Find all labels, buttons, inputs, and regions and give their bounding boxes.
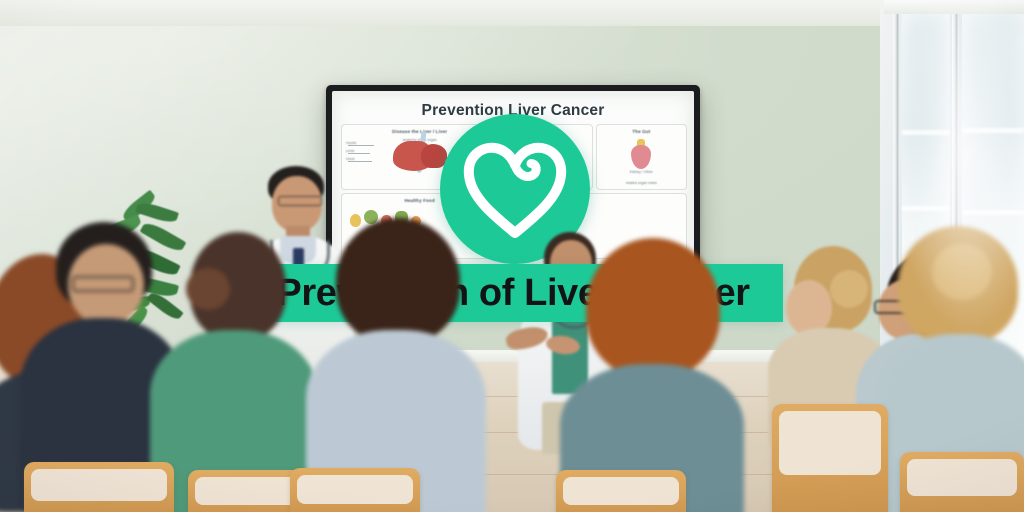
gallbladder-diagram-icon bbox=[629, 139, 653, 169]
chair-right-1 bbox=[772, 404, 888, 512]
panel-subtext: Kidney / Other bbox=[600, 170, 683, 175]
ceiling bbox=[0, 0, 1024, 26]
hair-bun bbox=[932, 244, 992, 300]
window-header-trim bbox=[884, 0, 1024, 14]
glasses-icon bbox=[278, 196, 322, 206]
slide-panel-gallbladder: The Gut Kidney / Other related organ not… bbox=[597, 125, 686, 189]
chair-center-1 bbox=[290, 468, 420, 512]
hair bbox=[586, 238, 720, 378]
screenshot-root: Prevention Liver Cancer Disease the Live… bbox=[0, 0, 1024, 512]
hair bbox=[336, 218, 460, 344]
chair-center-2 bbox=[556, 470, 686, 512]
hair-bun bbox=[186, 268, 230, 310]
panel-detail: related organ notes bbox=[600, 181, 683, 186]
chair-right-2 bbox=[900, 452, 1024, 512]
glasses-icon bbox=[72, 276, 134, 292]
chair-left-1 bbox=[24, 462, 174, 512]
panel-heading: The Gut bbox=[602, 129, 681, 136]
